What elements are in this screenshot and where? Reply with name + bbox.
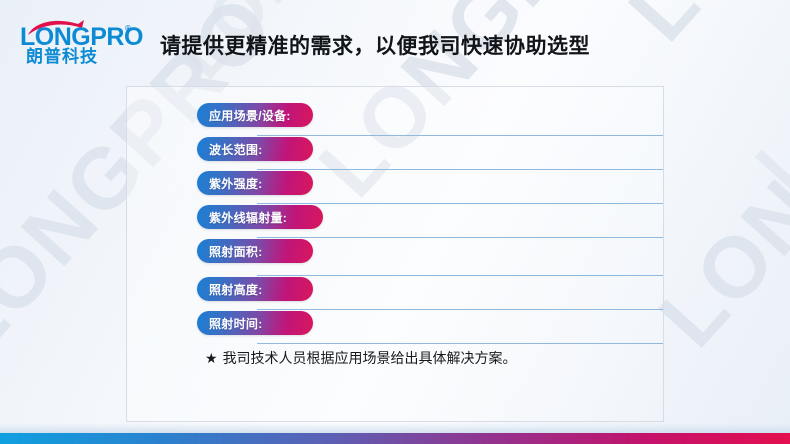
field-label-irradiation-height: 照射高度:: [197, 277, 313, 301]
slide-canvas: LONGPRO LONGPRO LONGPRO LONGPRO LONGPRO …: [0, 0, 790, 444]
watermark-text: LONGPRO: [610, 0, 790, 60]
requirement-form: 应用场景/设备: 波长范围: 紫外强度: 紫外线辐射量: 照射面积:: [197, 103, 617, 345]
field-label-text: 紫外强度:: [209, 175, 263, 192]
bottom-gradient-bar: [0, 433, 790, 444]
form-row: 应用场景/设备:: [197, 103, 617, 137]
form-row: 波长范围:: [197, 137, 617, 171]
field-label-wavelength-range: 波长范围:: [197, 137, 313, 161]
form-row: 照射高度:: [197, 277, 617, 311]
field-input-line-uv-intensity[interactable]: [257, 203, 663, 204]
field-input-line-uv-radiation-dose[interactable]: [257, 237, 663, 238]
watermark-text: LONGPRO: [740, 0, 790, 204]
field-input-line-wavelength-range[interactable]: [257, 169, 663, 170]
bottom-fade: [0, 423, 790, 433]
field-label-text: 波长范围:: [209, 141, 263, 158]
field-label-application-scene: 应用场景/设备:: [197, 103, 313, 127]
form-row: 紫外强度:: [197, 171, 617, 205]
field-label-text: 照射时间:: [209, 315, 263, 332]
field-label-irradiation-area: 照射面积:: [197, 239, 313, 263]
field-label-irradiation-time: 照射时间:: [197, 311, 313, 335]
field-input-line-irradiation-height[interactable]: [257, 309, 663, 310]
field-label-text: 应用场景/设备:: [209, 107, 291, 124]
form-row: 紫外线辐射量:: [197, 205, 617, 239]
form-row: 照射时间:: [197, 311, 617, 345]
field-input-line-application-scene[interactable]: [257, 135, 663, 136]
field-label-text: 照射高度:: [209, 281, 263, 298]
footnote: ★我司技术人员根据应用场景给出具体解决方案。: [205, 348, 517, 368]
field-label-uv-intensity: 紫外强度:: [197, 171, 313, 195]
field-label-text: 照射面积:: [209, 243, 263, 260]
logo-registered-mark: ®: [125, 24, 131, 33]
field-input-line-irradiation-time[interactable]: [257, 343, 663, 344]
company-logo: LONGPRO ® 朗普科技: [20, 16, 138, 64]
star-icon: ★: [205, 350, 218, 366]
page-title: 请提供更精准的需求，以便我司快速协助选型: [160, 30, 590, 60]
form-row: 照射面积:: [197, 239, 617, 277]
field-label-uv-radiation-dose: 紫外线辐射量:: [197, 205, 323, 229]
logo-chinese-name: 朗普科技: [26, 48, 98, 65]
footnote-text: 我司技术人员根据应用场景给出具体解决方案。: [223, 350, 517, 366]
field-input-line-irradiation-area[interactable]: [257, 275, 663, 276]
field-label-text: 紫外线辐射量:: [209, 209, 287, 226]
